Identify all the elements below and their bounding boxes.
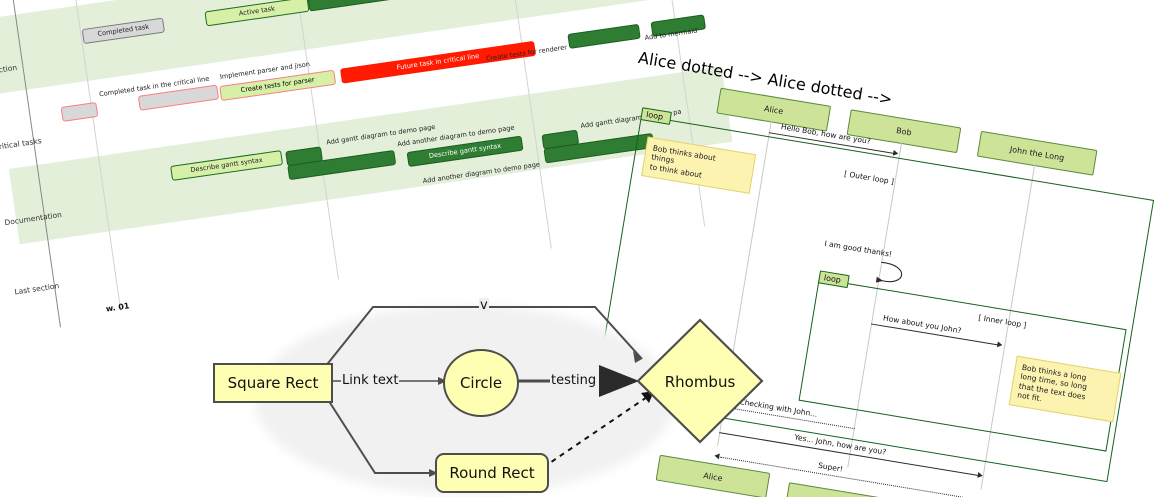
flowchart-node-square-rect[interactable]: Square Rect: [213, 363, 333, 403]
diagram-collage: Adding GANTT diagram functionality to me…: [0, 0, 1170, 497]
gantt-bar-label: Create tests for parser: [240, 77, 315, 94]
actor-label: Alice: [763, 104, 783, 116]
gantt-bar-label: Completed task: [97, 24, 149, 38]
flowchart-node-rhombus[interactable]: Rhombus: [635, 317, 765, 447]
flowchart-edge-label-v: v: [479, 298, 489, 313]
gantt-axis-tick: w. 01: [105, 301, 130, 313]
node-label: Rhombus: [665, 373, 736, 391]
sequence-actor-alice-top[interactable]: Alice: [716, 88, 831, 132]
gantt-section-label-last-section: Last section: [14, 281, 60, 296]
gantt-bar-label: Future task in critical line: [396, 53, 479, 71]
flowchart-edge-label-link-text: Link text: [341, 373, 399, 388]
gantt-section-label-critical-tasks: Critical tasks: [0, 136, 42, 152]
flowchart-node-round-rect[interactable]: Round Rect: [435, 453, 549, 493]
sequence-message-label-6: Super!: [818, 461, 844, 474]
gantt-bar-label: Active task: [238, 6, 275, 18]
sequence-actor-bob-top[interactable]: Bob: [847, 109, 962, 153]
arrow-head-icon: [997, 341, 1003, 348]
gantt-bar-create-tests-renderer[interactable]: [567, 24, 640, 49]
gantt-bar-future-critical[interactable]: Future task in critical line: [340, 41, 536, 84]
node-label: Circle: [460, 374, 502, 392]
node-label: Round Rect: [449, 464, 534, 482]
arrow-head-icon: [893, 150, 899, 157]
actor-label: Bob: [896, 126, 913, 137]
flowchart: Rhombus Square Rect Circle Round Rect Li…: [195, 295, 755, 497]
flowchart-node-circle[interactable]: Circle: [443, 349, 519, 417]
arrow-head-icon: [977, 472, 983, 479]
actor-label: John the Long: [1009, 144, 1065, 162]
flowchart-edge-label-testing: testing: [550, 373, 597, 388]
sequence-actor-john-top[interactable]: John the Long: [977, 131, 1098, 176]
node-label: Square Rect: [228, 374, 319, 392]
